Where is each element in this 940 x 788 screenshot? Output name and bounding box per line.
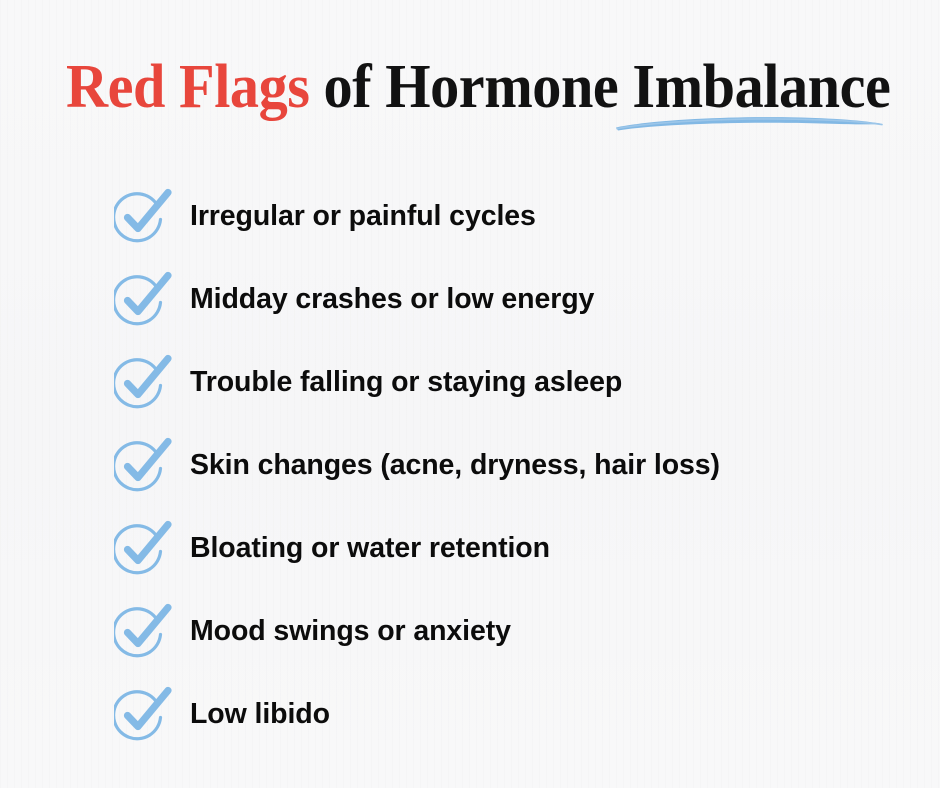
check-circle-icon <box>114 188 172 244</box>
list-item-label: Low libido <box>190 697 330 731</box>
check-circle-icon <box>114 686 172 742</box>
list-item: Trouble falling or staying asleep <box>114 354 904 410</box>
check-circle-icon <box>114 437 172 493</box>
list-item-label: Skin changes (acne, dryness, hair loss) <box>190 448 720 482</box>
check-circle-icon <box>114 354 172 410</box>
list-item: Low libido <box>114 686 904 742</box>
list-item: Irregular or painful cycles <box>114 188 904 244</box>
check-circle-icon <box>114 520 172 576</box>
blue-swoosh-underline <box>614 108 884 134</box>
list-item-label: Bloating or water retention <box>190 531 550 565</box>
page-title: Red Flags of Hormone Imbalance <box>66 52 886 134</box>
infographic-card: Red Flags of Hormone Imbalance Irregular… <box>0 0 940 788</box>
list-item: Mood swings or anxiety <box>114 603 904 659</box>
list-item: Midday crashes or low energy <box>114 271 904 327</box>
list-item-label: Midday crashes or low energy <box>190 282 594 316</box>
check-circle-icon <box>114 271 172 327</box>
checklist: Irregular or painful cycles Midday crash… <box>114 188 904 742</box>
list-item: Skin changes (acne, dryness, hair loss) <box>114 437 904 493</box>
headline-accent: Red Flags <box>66 53 309 121</box>
check-circle-icon <box>114 603 172 659</box>
list-item-label: Trouble falling or staying asleep <box>190 365 622 399</box>
list-item-label: Irregular or painful cycles <box>190 199 536 233</box>
list-item: Bloating or water retention <box>114 520 904 576</box>
list-item-label: Mood swings or anxiety <box>190 614 511 648</box>
